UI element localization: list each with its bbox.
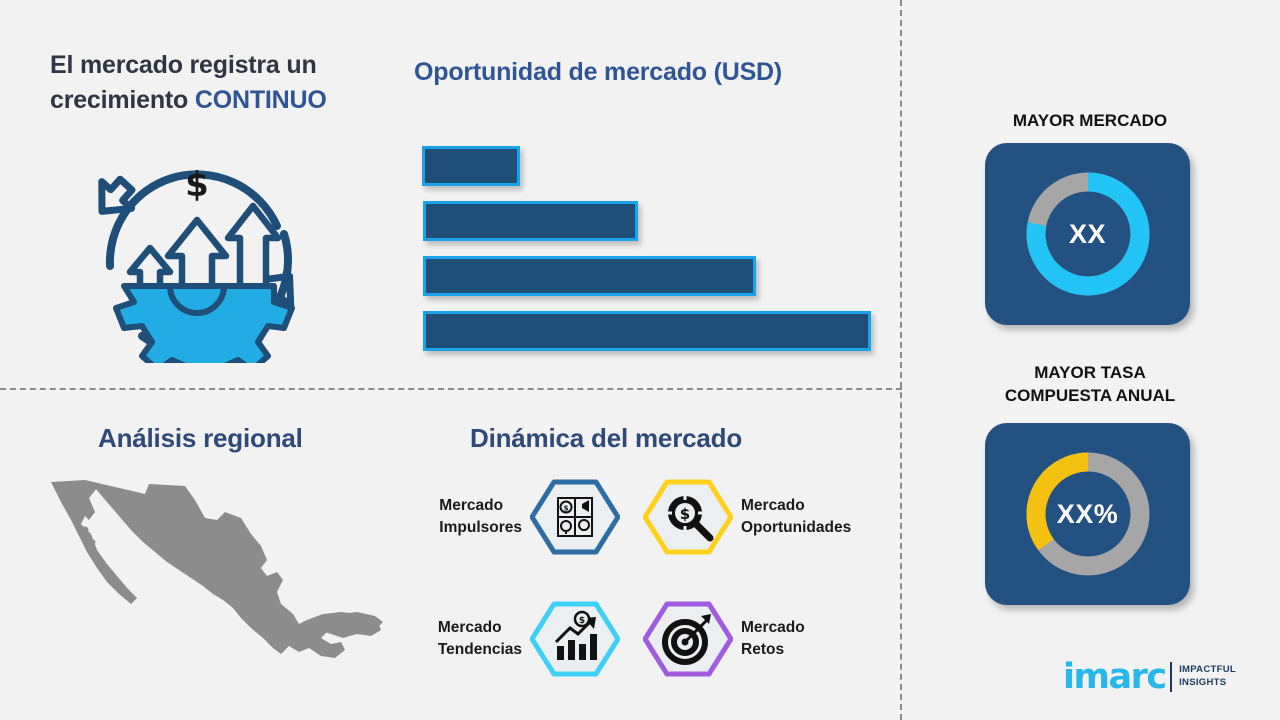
regional-heading: Análisis regional [98, 423, 303, 454]
svg-text:$: $ [564, 505, 569, 513]
infographic-page: El mercado registra un crecimiento CONTI… [0, 0, 1280, 720]
dynamics-label-trends: Mercado Tendencias [438, 617, 522, 662]
dynamics-item-opportunities[interactable]: $ Mercado Oportunidades [643, 478, 888, 556]
market-opportunity-bar-chart [420, 146, 880, 354]
dynamics-item-drivers[interactable]: Mercado Impulsores $ [395, 478, 620, 556]
svg-text:$: $ [680, 505, 690, 523]
dynamics-label-challenges: Mercado Retos [741, 617, 805, 662]
bar-1 [422, 146, 520, 186]
svg-text:$: $ [579, 616, 585, 626]
bar-3 [423, 256, 756, 296]
growth-gear-arrows-icon: $ [72, 138, 322, 363]
growth-heading-line1: El mercado registra un [50, 51, 317, 79]
kpi-title-highest-cagr: MAYOR TASA COMPUESTA ANUAL [940, 362, 1240, 408]
svg-text:$: $ [185, 165, 209, 205]
growth-heading-accent: CONTINUO [195, 86, 327, 114]
donut-value-largest-market: XX [985, 143, 1190, 325]
growth-heading: El mercado registra un crecimiento CONTI… [50, 48, 400, 117]
logo-wordmark: imarc [1063, 660, 1166, 695]
kpi-title-largest-market: MAYOR MERCADO [940, 110, 1240, 133]
mexico-map [45, 472, 390, 697]
dynamics-heading: Dinámica del mercado [470, 423, 742, 454]
dynamics-item-challenges[interactable]: Mercado Retos [643, 600, 888, 678]
dynamics-item-trends[interactable]: Mercado Tendencias $ [395, 600, 620, 678]
puzzle-pieces-icon: $ [530, 478, 620, 556]
donut-card-largest-market: XX [985, 143, 1190, 325]
vertical-divider [900, 0, 902, 720]
bar-chart-arrow-icon: $ [530, 600, 620, 678]
bars-heading: Oportunidad de mercado (USD) [414, 58, 782, 87]
bar-2 [423, 201, 638, 241]
donut-card-highest-cagr: XX% [985, 423, 1190, 605]
bar-4 [423, 311, 871, 351]
growth-heading-line2: crecimiento [50, 86, 195, 114]
dynamics-label-opportunities: Mercado Oportunidades [741, 495, 851, 540]
logo-divider [1170, 662, 1173, 692]
dynamics-label-drivers: Mercado Impulsores [439, 495, 522, 540]
target-dart-icon [643, 600, 733, 678]
horizontal-divider [0, 388, 902, 390]
magnifier-dollar-icon: $ [643, 478, 733, 556]
market-dynamics-group: Mercado Impulsores $ [395, 478, 895, 693]
logo-tagline: IMPACTFUL INSIGHTS [1179, 664, 1236, 690]
donut-value-highest-cagr: XX% [985, 423, 1190, 605]
imarc-logo: imarc IMPACTFUL INSIGHTS [1063, 653, 1253, 701]
